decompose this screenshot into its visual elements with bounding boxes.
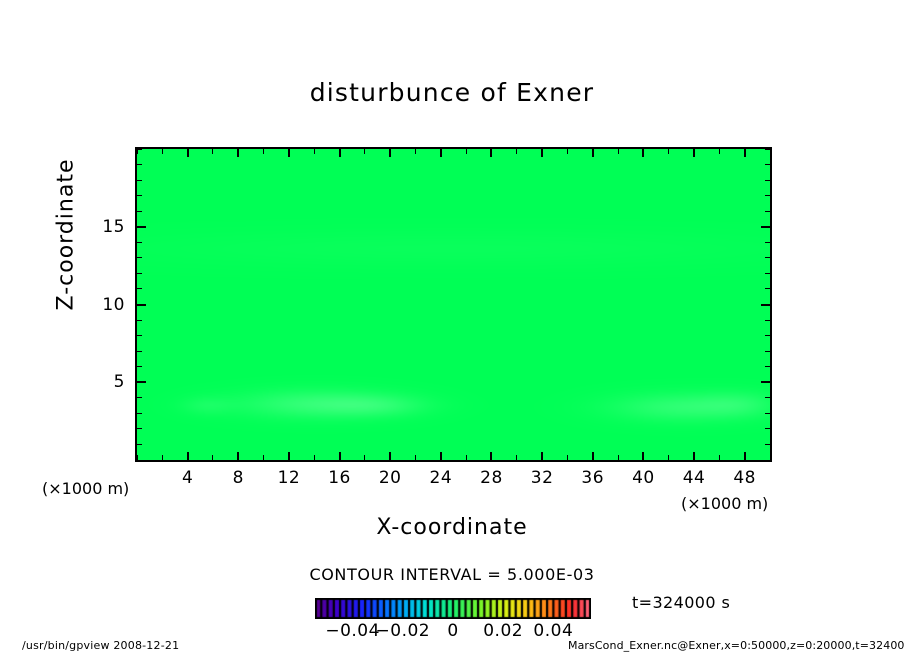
y-tick-minor-right — [765, 195, 770, 196]
y-tick-major-right — [761, 304, 770, 306]
colorbar-tick-label: 0 — [447, 621, 458, 641]
y-tick-minor — [137, 164, 142, 165]
x-tick-minor — [263, 455, 264, 460]
x-tick-major-top — [744, 149, 746, 157]
y-tick-minor-right — [765, 413, 770, 414]
y-tick-minor — [137, 366, 142, 367]
colorbar — [315, 598, 591, 619]
x-tick-minor — [162, 455, 163, 460]
x-tick-minor-top — [263, 149, 264, 154]
y-tick-minor-right — [765, 180, 770, 181]
x-tick-major-top — [541, 149, 543, 157]
y-tick-minor — [137, 413, 142, 414]
y-tick-minor — [137, 428, 142, 429]
colorbar-tick-label: −0.02 — [376, 621, 431, 641]
y-tick-minor-right — [765, 149, 770, 150]
x-tick-minor — [466, 455, 467, 460]
y-tick-minor-right — [765, 242, 770, 243]
x-tick-minor-top — [618, 149, 619, 154]
x-tick-minor-top — [212, 149, 213, 154]
x-tick-major-top — [693, 149, 695, 157]
y-tick-minor — [137, 211, 142, 212]
gpview-plot-window: disturbunce of Exner 4812162024283236404… — [0, 0, 904, 654]
x-tick-label: 48 — [733, 468, 756, 488]
y-tick-minor-right — [765, 320, 770, 321]
x-tick-major — [288, 452, 290, 460]
y-tick-minor — [137, 460, 142, 461]
y-tick-minor-right — [765, 257, 770, 258]
contour-interval-label: CONTOUR INTERVAL = 5.000E-03 — [0, 565, 904, 584]
y-tick-minor-right — [765, 211, 770, 212]
y-tick-major-right — [761, 226, 770, 228]
x-tick-minor — [314, 455, 315, 460]
x-tick-minor — [415, 455, 416, 460]
x-tick-major — [592, 452, 594, 460]
x-tick-minor — [719, 455, 720, 460]
y-tick-minor-right — [765, 164, 770, 165]
x-tick-major — [339, 452, 341, 460]
x-axis-unit-right: (×1000 m) — [681, 494, 768, 513]
x-tick-label: 28 — [480, 468, 503, 488]
y-tick-major — [137, 226, 146, 228]
x-tick-major-top — [339, 149, 341, 157]
x-axis-unit-left: (×1000 m) — [42, 479, 129, 498]
x-tick-major — [490, 452, 492, 460]
y-tick-minor — [137, 444, 142, 445]
x-tick-major-top — [389, 149, 391, 157]
y-tick-minor — [137, 335, 142, 336]
x-tick-minor-top — [466, 149, 467, 154]
x-tick-minor-top — [567, 149, 568, 154]
y-axis-title: Z-coordinate — [54, 125, 79, 345]
x-tick-major-top — [237, 149, 239, 157]
x-tick-label: 12 — [278, 468, 301, 488]
y-tick-minor-right — [765, 428, 770, 429]
x-tick-label: 40 — [632, 468, 655, 488]
footer-dataset-label: MarsCond_Exner.nc@Exner,x=0:50000,z=0:20… — [568, 639, 904, 652]
colorbar-gradient — [315, 598, 591, 619]
footer-command-label: /usr/bin/gpview 2008-12-21 — [22, 639, 179, 652]
plot-area — [135, 147, 772, 462]
x-tick-major-top — [288, 149, 290, 157]
y-tick-minor-right — [765, 335, 770, 336]
x-tick-major-top — [490, 149, 492, 157]
y-tick-minor — [137, 149, 142, 150]
x-tick-label: 44 — [683, 468, 706, 488]
x-tick-minor-top — [364, 149, 365, 154]
y-tick-minor-right — [765, 460, 770, 461]
y-tick-minor-right — [765, 366, 770, 367]
exner-disturbance-heatmap — [137, 149, 770, 460]
y-tick-minor — [137, 397, 142, 398]
x-tick-minor-top — [162, 149, 163, 154]
colorbar-tick-label: 0.02 — [483, 621, 523, 641]
x-tick-major — [693, 452, 695, 460]
y-tick-minor — [137, 273, 142, 274]
y-tick-minor — [137, 351, 142, 352]
y-tick-minor-right — [765, 288, 770, 289]
y-tick-minor-right — [765, 351, 770, 352]
x-tick-minor-top — [137, 149, 138, 154]
x-tick-major — [744, 452, 746, 460]
x-tick-minor-top — [516, 149, 517, 154]
x-tick-label: 24 — [430, 468, 453, 488]
x-tick-label: 8 — [233, 468, 244, 488]
y-tick-major — [137, 304, 146, 306]
colorbar-tick-label: 0.04 — [533, 621, 573, 641]
x-tick-major-top — [592, 149, 594, 157]
x-tick-major — [541, 452, 543, 460]
x-tick-minor-top — [415, 149, 416, 154]
x-tick-minor-top — [668, 149, 669, 154]
y-tick-label: 5 — [93, 372, 125, 392]
y-tick-major-right — [761, 381, 770, 383]
y-tick-minor-right — [765, 397, 770, 398]
x-tick-label: 20 — [379, 468, 402, 488]
x-tick-minor — [516, 455, 517, 460]
y-tick-minor-right — [765, 444, 770, 445]
y-tick-minor — [137, 288, 142, 289]
x-tick-minor — [618, 455, 619, 460]
y-tick-minor — [137, 195, 142, 196]
y-tick-minor — [137, 320, 142, 321]
y-tick-major — [137, 381, 146, 383]
x-tick-minor — [212, 455, 213, 460]
x-tick-major-top — [187, 149, 189, 157]
y-tick-minor-right — [765, 273, 770, 274]
x-tick-major-top — [440, 149, 442, 157]
x-tick-minor — [364, 455, 365, 460]
y-tick-label: 15 — [93, 217, 125, 237]
x-tick-major-top — [642, 149, 644, 157]
x-axis-title: X-coordinate — [0, 515, 904, 540]
x-tick-major — [237, 452, 239, 460]
x-tick-minor — [668, 455, 669, 460]
x-tick-major — [389, 452, 391, 460]
x-tick-minor-top — [719, 149, 720, 154]
y-tick-minor — [137, 242, 142, 243]
x-tick-label: 4 — [182, 468, 193, 488]
y-tick-minor — [137, 180, 142, 181]
x-tick-major — [642, 452, 644, 460]
x-tick-minor-top — [314, 149, 315, 154]
x-tick-label: 36 — [581, 468, 604, 488]
x-tick-label: 16 — [328, 468, 351, 488]
x-tick-minor-top — [770, 149, 771, 154]
page-title: disturbunce of Exner — [0, 78, 904, 107]
x-tick-minor — [567, 455, 568, 460]
time-stamp-label: t=324000 s — [632, 593, 730, 612]
y-tick-label: 10 — [93, 295, 125, 315]
x-tick-major — [187, 452, 189, 460]
x-tick-label: 32 — [531, 468, 554, 488]
x-tick-major — [440, 452, 442, 460]
colorbar-tick-label: −0.04 — [325, 621, 380, 641]
y-tick-minor — [137, 257, 142, 258]
